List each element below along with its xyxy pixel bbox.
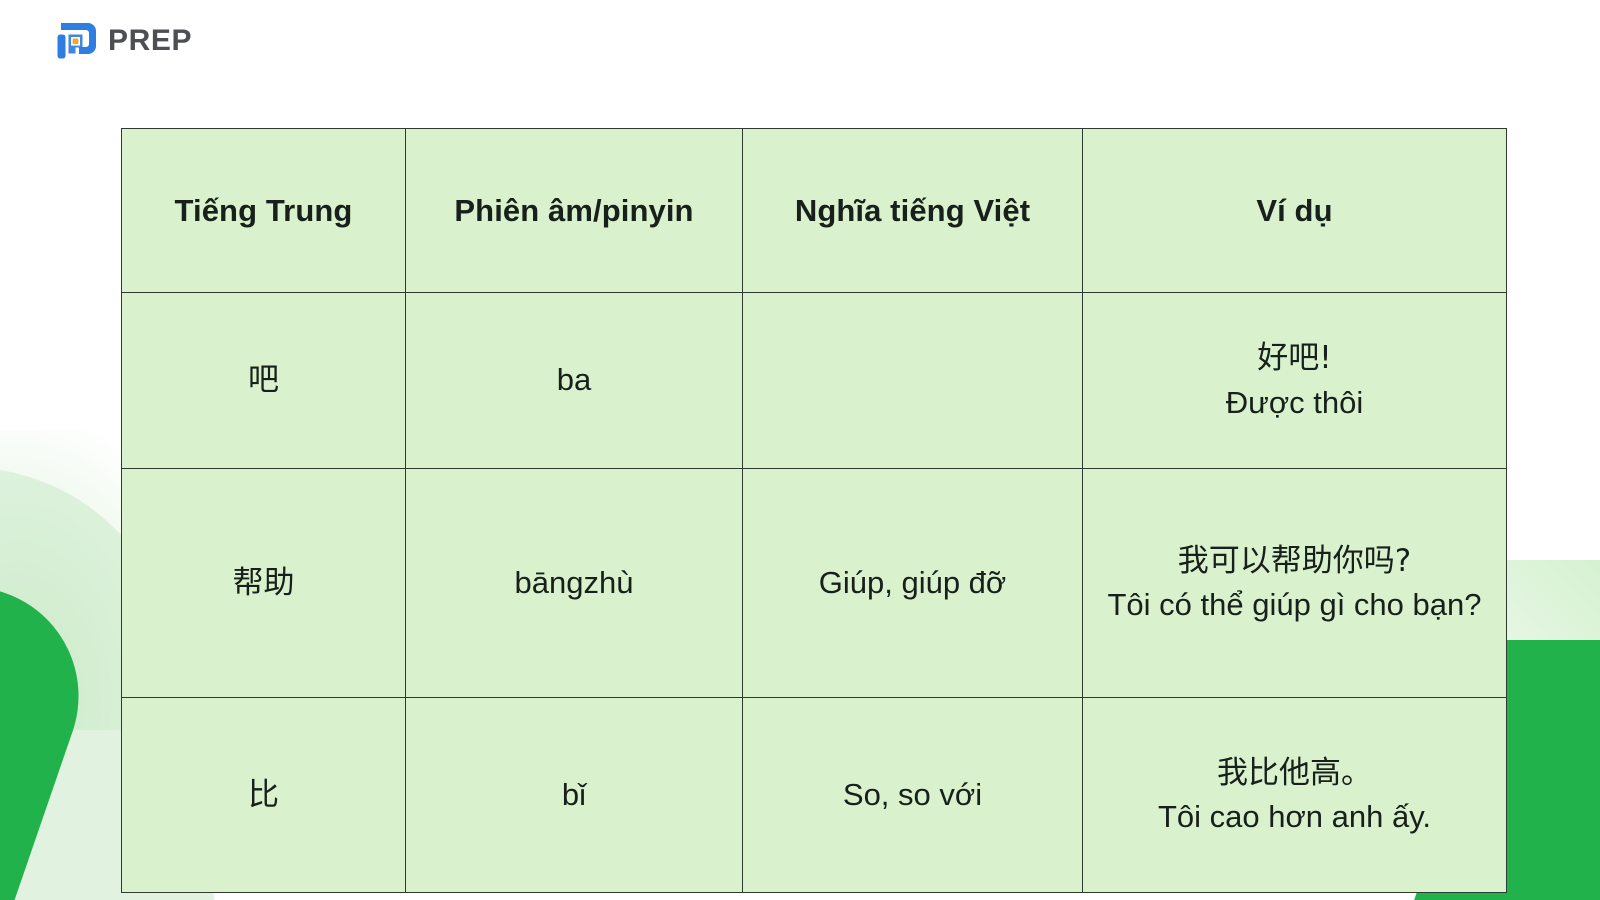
vocabulary-table-container: Tiếng Trung Phiên âm/pinyin Nghĩa tiếng … bbox=[121, 128, 1506, 893]
cell-chinese: 吧 bbox=[122, 293, 406, 469]
slide-canvas: PREP Tiếng Trung Phiên âm/pinyin Nghĩa t… bbox=[0, 0, 1600, 900]
example-vietnamese: Được thôi bbox=[1097, 381, 1492, 425]
table-row: 比 bǐ So, so với 我比他高。 Tôi cao hơn anh ấy… bbox=[122, 698, 1507, 893]
cell-example: 我可以帮助你吗? Tôi có thể giúp gì cho bạn? bbox=[1083, 469, 1507, 698]
example-chinese: 我可以帮助你吗? bbox=[1097, 539, 1492, 583]
cell-pinyin: bāngzhù bbox=[406, 469, 743, 698]
example-chinese: 我比他高。 bbox=[1097, 751, 1492, 795]
prep-logo-icon bbox=[55, 20, 99, 62]
table-row: 帮助 bāngzhù Giúp, giúp đỡ 我可以帮助你吗? Tôi có… bbox=[122, 469, 1507, 698]
cell-meaning bbox=[743, 293, 1083, 469]
column-header-meaning: Nghĩa tiếng Việt bbox=[743, 129, 1083, 293]
column-header-example: Ví dụ bbox=[1083, 129, 1507, 293]
cell-pinyin: ba bbox=[406, 293, 743, 469]
cell-example: 好吧! Được thôi bbox=[1083, 293, 1507, 469]
brand-name: PREP bbox=[108, 26, 192, 56]
column-header-pinyin: Phiên âm/pinyin bbox=[406, 129, 743, 293]
cell-example: 我比他高。 Tôi cao hơn anh ấy. bbox=[1083, 698, 1507, 893]
cell-chinese: 比 bbox=[122, 698, 406, 893]
example-chinese: 好吧! bbox=[1097, 336, 1492, 380]
column-header-chinese: Tiếng Trung bbox=[122, 129, 406, 293]
table-row: 吧 ba 好吧! Được thôi bbox=[122, 293, 1507, 469]
vocabulary-table: Tiếng Trung Phiên âm/pinyin Nghĩa tiếng … bbox=[121, 128, 1507, 893]
cell-meaning: Giúp, giúp đỡ bbox=[743, 469, 1083, 698]
decor-bottom-left-green-stroke bbox=[0, 558, 108, 900]
cell-pinyin: bǐ bbox=[406, 698, 743, 893]
cell-meaning: So, so với bbox=[743, 698, 1083, 893]
example-vietnamese: Tôi có thể giúp gì cho bạn? bbox=[1097, 583, 1492, 627]
table-header-row: Tiếng Trung Phiên âm/pinyin Nghĩa tiếng … bbox=[122, 129, 1507, 293]
cell-chinese: 帮助 bbox=[122, 469, 406, 698]
brand-logo[interactable]: PREP bbox=[55, 20, 192, 62]
example-vietnamese: Tôi cao hơn anh ấy. bbox=[1097, 795, 1492, 839]
